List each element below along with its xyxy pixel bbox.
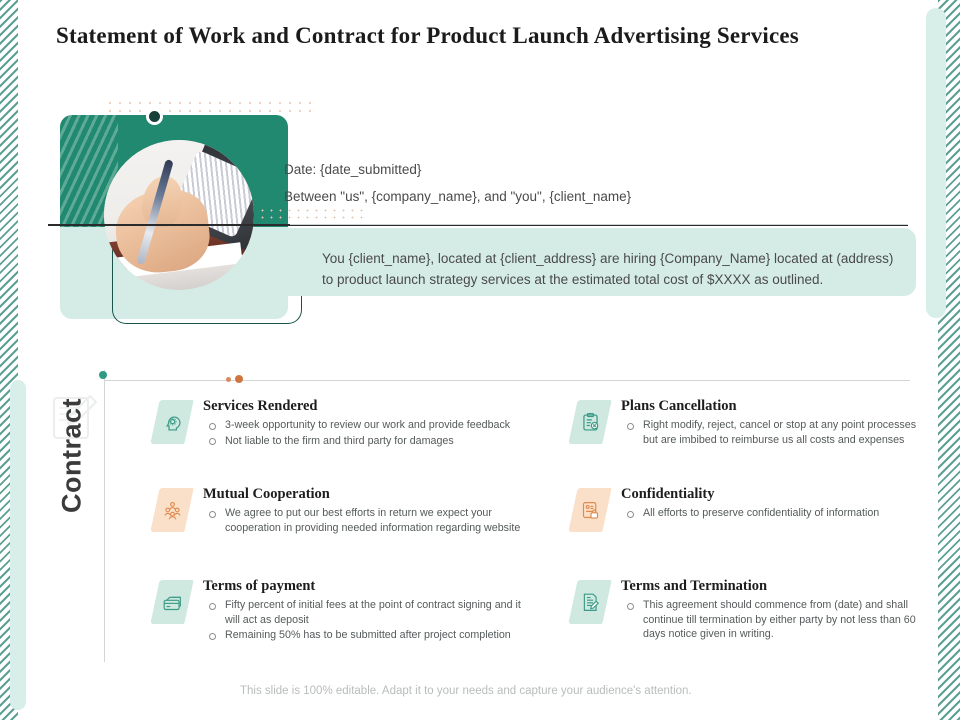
section-teal-dot xyxy=(99,371,107,379)
bullet: This agreement should commence from (dat… xyxy=(621,598,928,642)
item-bullets: All efforts to preserve confidentiality … xyxy=(621,506,879,522)
item-bullets: Fifty percent of initial fees at the poi… xyxy=(203,598,530,644)
item-bullets: We agree to put our best efforts in retu… xyxy=(203,506,530,536)
item-badge xyxy=(568,580,613,624)
item-title: Confidentiality xyxy=(621,486,714,503)
page-title: Statement of Work and Contract for Produ… xyxy=(56,23,896,49)
item-title: Mutual Cooperation xyxy=(203,486,330,503)
item-bullets: This agreement should commence from (dat… xyxy=(621,598,928,643)
bullet: 3-week opportunity to review our work an… xyxy=(203,418,510,433)
date-line: Date: {date_submitted} xyxy=(284,162,421,177)
bullet: Fifty percent of initial fees at the poi… xyxy=(203,598,530,627)
dot-pattern-top xyxy=(105,99,315,115)
bullet: All efforts to preserve confidentiality … xyxy=(621,506,879,521)
item-title: Services Rendered xyxy=(203,398,318,415)
parties-line: Between "us", {company_name}, and "you",… xyxy=(284,189,631,204)
item-title: Terms and Termination xyxy=(621,578,767,595)
bullet: Remaining 50% has to be submitted after … xyxy=(203,628,530,643)
header-divider-light xyxy=(290,224,908,225)
bullet: Right modify, reject, cancel or stop at … xyxy=(621,418,923,447)
document-lock-icon xyxy=(573,488,607,532)
item-bullets: 3-week opportunity to review our work an… xyxy=(203,418,510,449)
item-badge xyxy=(568,400,613,444)
section-vertical-label: Contract xyxy=(57,366,88,546)
bullet: We agree to put our best efforts in retu… xyxy=(203,506,530,535)
item-badge xyxy=(150,488,195,532)
clipboard-cancel-icon xyxy=(573,400,607,444)
head-gear-icon xyxy=(155,400,189,444)
contract-pen-icon xyxy=(573,580,607,624)
right-mint-bar xyxy=(926,8,946,318)
statement-text: You {client_name}, located at {client_ad… xyxy=(322,248,900,290)
item-bullets: Right modify, reject, cancel or stop at … xyxy=(621,418,923,448)
item-badge xyxy=(568,488,613,532)
item-title: Terms of payment xyxy=(203,578,315,595)
item-title: Plans Cancellation xyxy=(621,398,737,415)
footer-note: This slide is 100% editable. Adapt it to… xyxy=(240,685,760,697)
contract-signing-photo xyxy=(104,140,254,290)
item-badge xyxy=(150,400,195,444)
people-group-icon xyxy=(155,488,189,532)
bullet: Not liable to the firm and third party f… xyxy=(203,434,510,449)
item-badge xyxy=(150,580,195,624)
hero-accent-dot xyxy=(146,108,163,125)
slide-root: Statement of Work and Contract for Produ… xyxy=(0,0,960,720)
section-vertical-rule xyxy=(104,370,105,662)
left-mint-bar xyxy=(10,380,26,710)
section-orange-dot-small xyxy=(226,377,231,382)
section-horizontal-rule xyxy=(104,380,910,381)
section-orange-dot-large xyxy=(235,375,243,383)
dot-pattern-middle xyxy=(258,207,366,221)
credit-card-icon xyxy=(155,580,189,624)
